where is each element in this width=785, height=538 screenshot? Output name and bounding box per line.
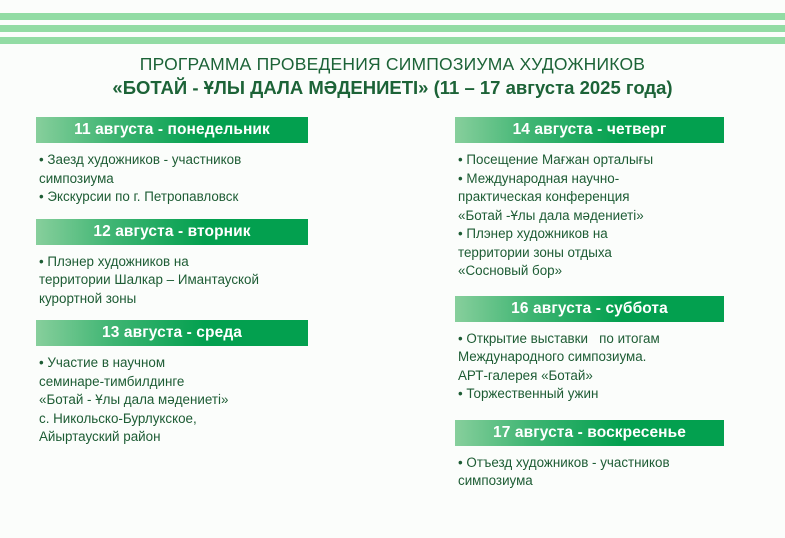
day-body-13-august: • Участие в научном семинаре-тимбилдинге… [36,346,308,447]
day-line: «Ботай - Ұлы дала мәдениеті» [39,391,308,410]
day-line: симпозиума [39,170,308,189]
day-body-11-august: • Заезд художников - участников симпозиу… [36,143,308,207]
day-block-16-august: 16 августа - суббота • Открытие выставки… [455,296,724,404]
day-block-14-august: 14 августа - четверг • Посещение Мағжан … [455,117,724,281]
day-header-16-august: 16 августа - суббота [455,296,724,322]
day-line: • Открытие выставки по итогам [458,330,724,349]
decorative-rule-1 [0,13,785,20]
day-line: • Посещение Мағжан орталығы [458,151,724,170]
day-line: практическая конференция [458,188,724,207]
day-line: курортной зоны [39,290,308,309]
day-line: Айыртауский район [39,428,308,447]
day-line: • Участие в научном [39,354,308,373]
day-block-17-august: 17 августа - воскресенье • Отъезд художн… [455,420,724,491]
day-header-12-august: 12 августа - вторник [36,219,308,245]
day-line: • Международная научно- [458,170,724,189]
day-line: • Плэнер художников на [39,253,308,272]
day-line: • Отъезд художников - участников [458,454,724,473]
day-block-11-august: 11 августа - понедельник • Заезд художни… [36,117,308,207]
title-line-1: ПРОГРАММА ПРОВЕДЕНИЯ СИМПОЗИУМА ХУДОЖНИК… [0,54,785,75]
day-block-13-august: 13 августа - среда • Участие в научном с… [36,320,308,447]
day-line: • Плэнер художников на [458,225,724,244]
day-line: • Торжественный ужин [458,385,724,404]
day-header-17-august: 17 августа - воскресенье [455,420,724,446]
day-line: симпозиума [458,472,724,491]
day-line: «Сосновый бор» [458,262,724,281]
day-body-17-august: • Отъезд художников - участников симпози… [455,446,724,491]
day-line: АРТ-галерея «Ботай» [458,367,724,386]
day-line: • Заезд художников - участников [39,151,308,170]
day-line: территории зоны отдыха [458,244,724,263]
page-title: ПРОГРАММА ПРОВЕДЕНИЯ СИМПОЗИУМА ХУДОЖНИК… [0,54,785,99]
day-body-16-august: • Открытие выставки по итогам Международ… [455,322,724,404]
day-line: • Экскурсии по г. Петропавловск [39,188,308,207]
day-body-12-august: • Плэнер художников на территории Шалкар… [36,245,308,309]
schedule-column-left: 11 августа - понедельник • Заезд художни… [36,117,308,447]
day-header-14-august: 14 августа - четверг [455,117,724,143]
day-block-12-august: 12 августа - вторник • Плэнер художников… [36,219,308,309]
day-body-14-august: • Посещение Мағжан орталығы • Международ… [455,143,724,281]
day-line: Международного симпозиума. [458,348,724,367]
day-line: территории Шалкар – Имантауской [39,271,308,290]
day-header-13-august: 13 августа - среда [36,320,308,346]
decorative-rule-3 [0,37,785,44]
decorative-rule-2 [0,25,785,32]
schedule-column-right: 14 августа - четверг • Посещение Мағжан … [455,117,724,491]
day-line: семинаре-тимбилдинге [39,373,308,392]
day-header-11-august: 11 августа - понедельник [36,117,308,143]
title-line-2: «БОТАЙ - ҰЛЫ ДАЛА МӘДЕНИЕТІ» (11 – 17 ав… [0,76,785,99]
day-line: «Ботай -Ұлы дала мәдениеті» [458,207,724,226]
top-decorative-rules [0,13,785,44]
day-line: с. Никольско-Бурлукское, [39,410,308,429]
